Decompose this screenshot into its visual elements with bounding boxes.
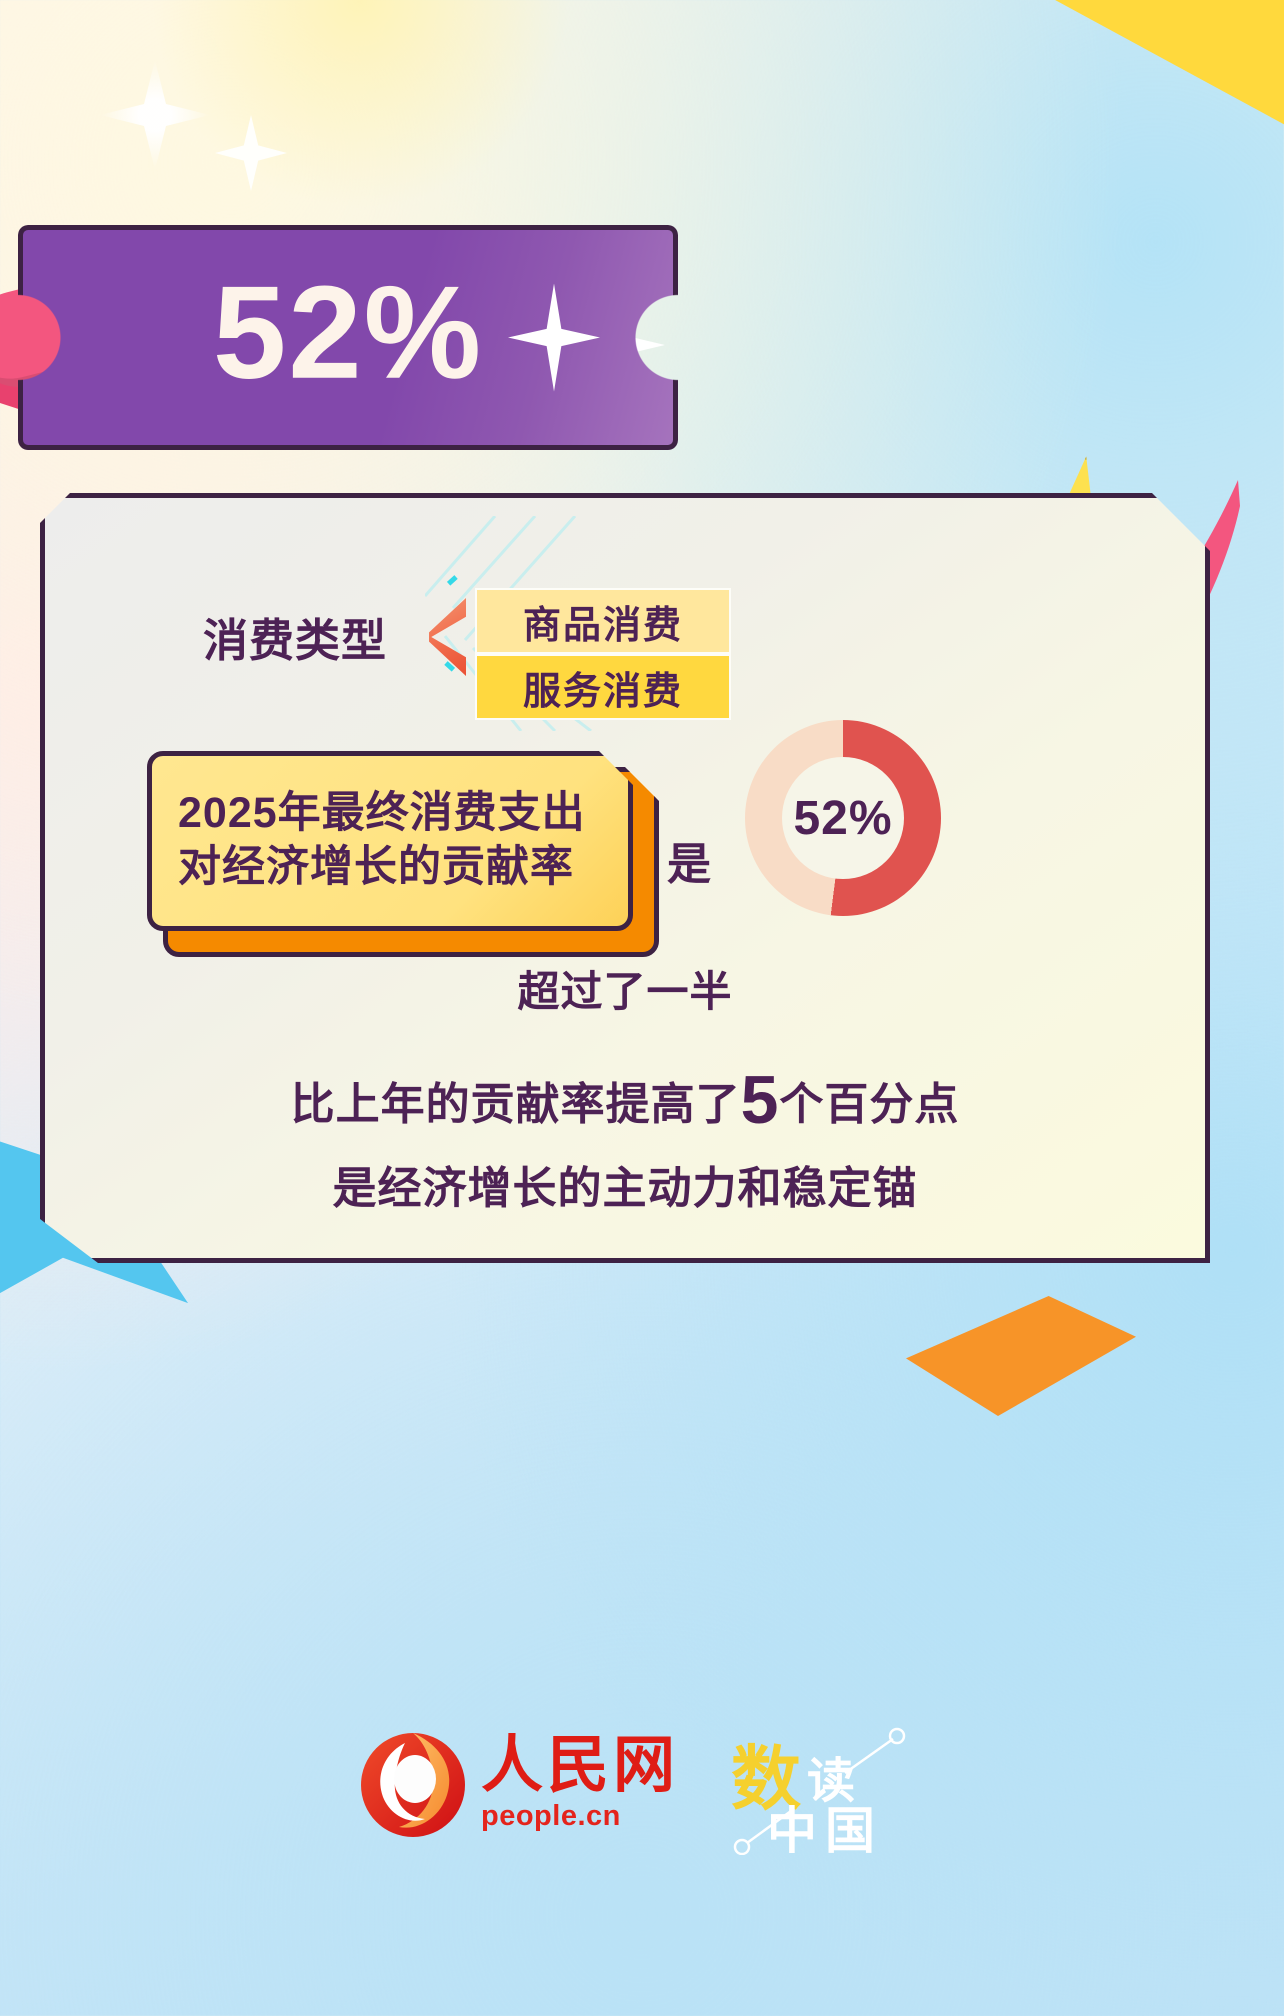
brand-name-en: people.cn	[481, 1800, 621, 1833]
headline-tag: 52%	[18, 225, 678, 450]
content-card: 消费类型 商品消费 服务消费 2025年最终消费支出 对经济增长的贡献率 是 5…	[40, 493, 1210, 1263]
orange-ribbon-shape	[906, 1296, 1136, 1416]
donut-center-value: 52%	[793, 791, 892, 846]
statement-line-c: 是经济增长的主动力和稳定锚	[45, 1152, 1205, 1216]
corner-yellow-triangle	[1013, 0, 1284, 196]
peoples-daily-mark-icon	[359, 1731, 467, 1839]
series-logo[interactable]: 数 读 中国	[725, 1715, 925, 1855]
callout-line-1: 2025年最终消费支出	[178, 787, 586, 841]
statement-line-a: 超过了一半	[45, 958, 1205, 1019]
callout-face: 2025年最终消费支出 对经济增长的贡献率	[147, 751, 633, 931]
brand-name-cn: 人民网	[481, 1737, 679, 1796]
peoples-daily-wordmark: 人民网 people.cn	[481, 1737, 679, 1833]
donut-center: 52%	[782, 757, 904, 879]
consumption-type-label: 消费类型	[180, 604, 410, 669]
headline-percent: 52%	[18, 266, 678, 398]
statement-line-b: 比上年的贡献率提高了5个百分点	[45, 1068, 1205, 1132]
series-char-3: 中国	[767, 1791, 883, 1863]
chevron-left-icon	[410, 598, 466, 676]
callout-line-2: 对经济增长的贡献率	[178, 841, 574, 895]
connector-word: 是	[667, 828, 711, 892]
statement-b-number: 5	[741, 1062, 780, 1138]
badge-services-consumption[interactable]: 服务消费	[475, 654, 731, 720]
yellow-glow	[150, 0, 570, 210]
statement-b-prefix: 比上年的贡献率提高了	[291, 1080, 741, 1129]
footer: 人民网 people.cn 数 读 中国	[0, 1690, 1284, 1880]
consumption-type-row: 消费类型 商品消费 服务消费	[45, 566, 1205, 706]
callout-box: 2025年最终消费支出 对经济增长的贡献率	[147, 751, 633, 931]
statement-b-suffix: 个百分点	[779, 1080, 959, 1129]
donut-chart: 52%	[745, 720, 941, 916]
badge-goods-consumption[interactable]: 商品消费	[475, 588, 731, 654]
poster-canvas: 52% 消费类型 商品消费 服务消费	[0, 0, 1284, 2016]
peoples-daily-logo[interactable]: 人民网 people.cn	[359, 1731, 679, 1839]
